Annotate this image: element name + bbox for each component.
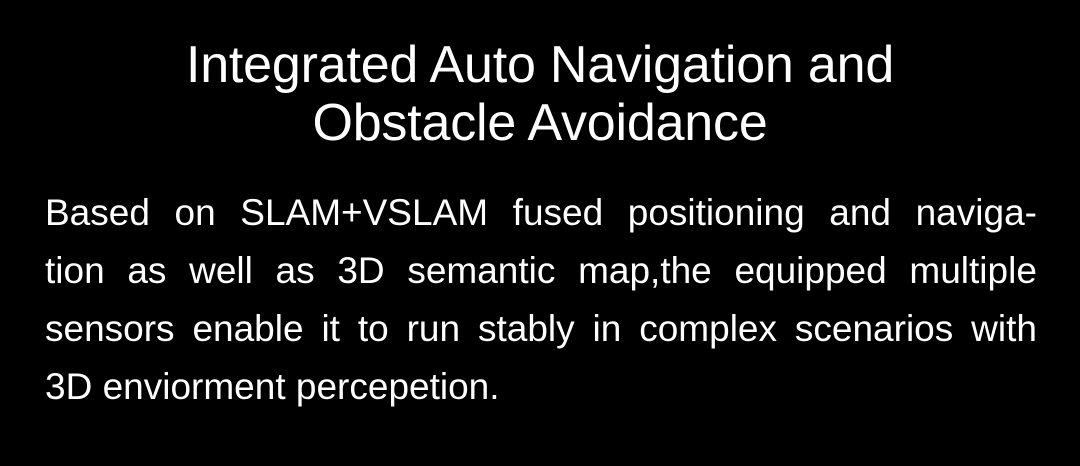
body-word: positioning (628, 184, 805, 242)
body-paragraph: Based on SLAM+VSLAM fused positioning an… (45, 184, 1037, 416)
body-word: map,the (578, 242, 712, 300)
body-word: as (276, 242, 315, 300)
title-line-2: Obstacle Avoidance (0, 94, 1080, 152)
body-word: it (321, 300, 340, 358)
body-line-3: sensors enable it to run stably in compl… (45, 300, 1037, 358)
body-line-1: Based on SLAM+VSLAM fused positioning an… (45, 184, 1037, 242)
body-word: semantic (407, 242, 555, 300)
body-word: Based (45, 184, 150, 242)
body-word: with (971, 300, 1037, 358)
body-word: naviga- (916, 184, 1037, 242)
body-word: multiple (909, 242, 1037, 300)
body-word: run (407, 300, 460, 358)
body-word: equipped (734, 242, 886, 300)
body-word: well (189, 242, 253, 300)
body-word: as (127, 242, 166, 300)
body-word: complex (639, 300, 777, 358)
title-line-1: Integrated Auto Navigation and (0, 36, 1080, 94)
body-word: to (358, 300, 389, 358)
body-word: on (175, 184, 216, 242)
page-title: Integrated Auto Navigation and Obstacle … (0, 36, 1080, 152)
body-word: enable (192, 300, 303, 358)
body-word: 3D (337, 242, 384, 300)
body-word: stably (478, 300, 575, 358)
body-word: scenarios (795, 300, 953, 358)
body-line-2: tion as well as 3D semantic map,the equi… (45, 242, 1037, 300)
slide-canvas: Integrated Auto Navigation and Obstacle … (0, 0, 1080, 466)
body-word: fused (513, 184, 604, 242)
body-word: sensors (45, 300, 175, 358)
body-word: and (829, 184, 891, 242)
body-word: tion (45, 242, 105, 300)
body-word: in (593, 300, 622, 358)
body-line-4: 3D enviorment percepetion. (45, 358, 1037, 416)
body-word: SLAM+VSLAM (240, 184, 488, 242)
